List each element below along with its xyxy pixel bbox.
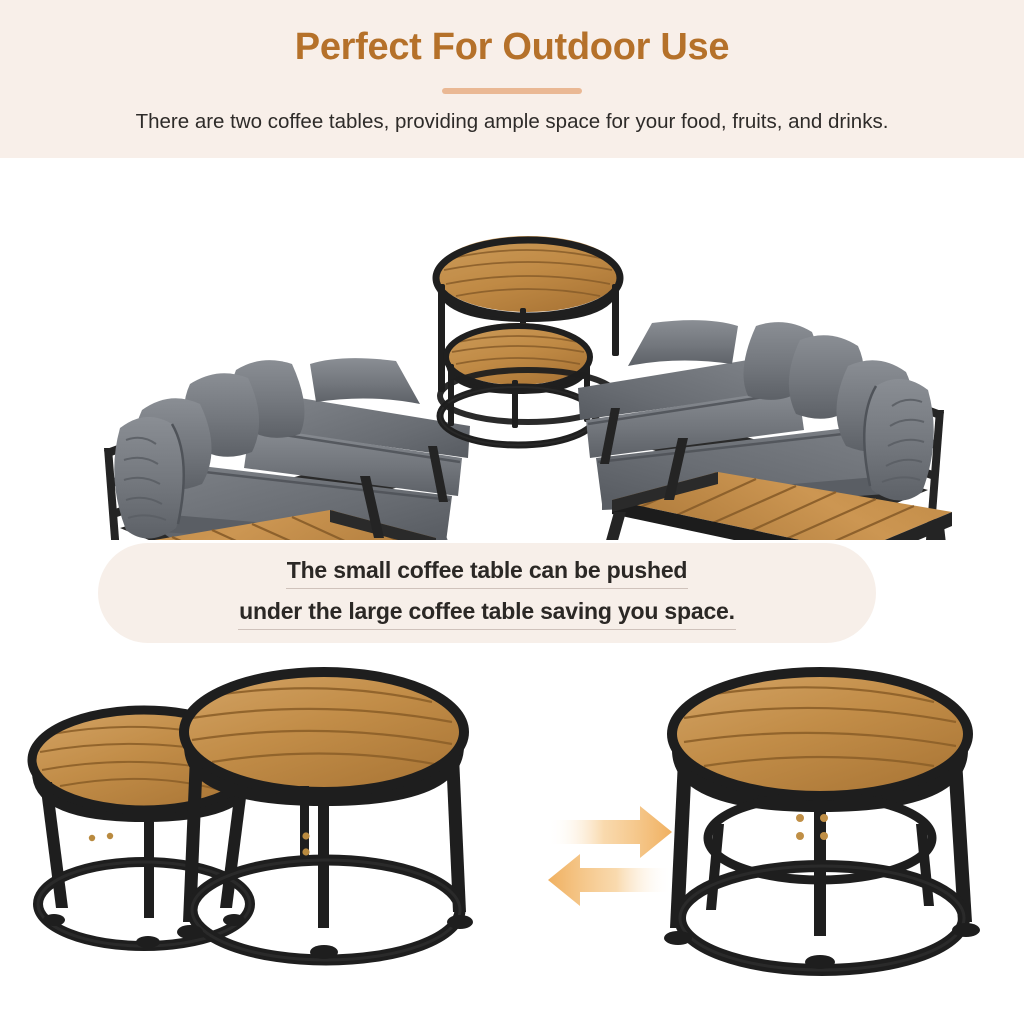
page-title: Perfect For Outdoor Use <box>0 26 1024 69</box>
header-band: Perfect For Outdoor Use There are two co… <box>0 0 1024 158</box>
product-infographic-page: Perfect For Outdoor Use There are two co… <box>0 0 1024 1024</box>
arrow-right-icon <box>548 806 672 858</box>
page-subtitle: There are two coffee tables, providing a… <box>0 110 1024 134</box>
callout-line-1: The small coffee table can be pushed <box>286 557 689 589</box>
nested-coffee-tables <box>664 670 980 970</box>
large-coffee-table <box>177 670 473 960</box>
left-sectional-sofa <box>94 358 470 540</box>
hero-product-photo <box>0 158 1024 540</box>
callout-box: The small coffee table can be pushed und… <box>98 543 876 643</box>
separate-coffee-tables <box>32 670 473 960</box>
bottom-comparison-photo <box>0 660 1024 1024</box>
right-sectional-sofa <box>578 320 954 540</box>
title-divider <box>442 88 582 94</box>
callout-line-2: under the large coffee table saving you … <box>238 598 736 630</box>
arrow-left-icon <box>548 854 672 906</box>
